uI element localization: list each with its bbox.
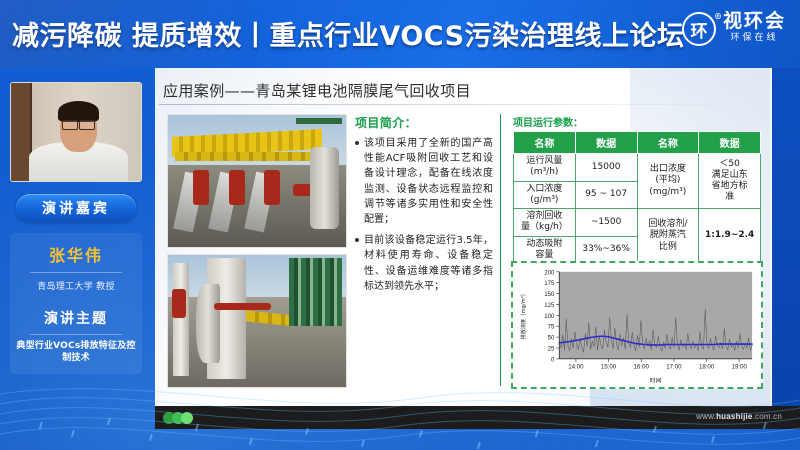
photo-red-pipe <box>229 170 245 204</box>
speaker-info-card: 张华伟 青岛理工大学 教授 演讲主题 典型行业VOCs排放特征及控制技术 <box>10 233 142 374</box>
site-name: huashijie <box>716 412 752 421</box>
cell-value: 95 ~ 107 <box>575 181 637 209</box>
slide-stage[interactable]: 应用案例——青岛某锂电池隔膜尾气回收项目 <box>155 68 800 406</box>
svg-text:200: 200 <box>544 270 555 276</box>
status-dot-icon <box>181 412 193 424</box>
svg-text:175: 175 <box>544 281 555 287</box>
photo-red-pipe <box>193 170 209 204</box>
cell-name: 动态吸附容量 <box>514 236 576 264</box>
svg-text:0: 0 <box>551 357 555 363</box>
logo-sub-text: 环保在线 <box>730 32 778 46</box>
speaker-glasses-icon <box>62 120 96 128</box>
slide-title: 应用案例——青岛某锂电池隔膜尾气回收项目 <box>163 80 471 101</box>
col-header-data-1: 数据 <box>575 132 637 154</box>
slide-right-accent-bar <box>772 68 800 406</box>
photo-green-band <box>296 118 342 125</box>
svg-text:75: 75 <box>548 325 555 331</box>
cell-value: ＜50满足山东省地方标准 <box>699 154 761 209</box>
table-header-row: 名称 数据 名称 数据 <box>514 132 761 154</box>
cell-value: 15000 <box>575 154 637 182</box>
cell-name: 回收溶剂/脱附蒸汽比例 <box>637 209 699 264</box>
photo-green-structure <box>289 258 342 327</box>
page-header: 减污降碳 提质增效丨重点行业VOCS污染治理线上论坛 环 视环会 环保在线 <box>0 0 800 68</box>
site-prefix: www. <box>696 412 716 421</box>
slide-right-accent-edge <box>770 68 772 406</box>
cell-value: ~1500 <box>575 209 637 237</box>
photo-red-pipe <box>264 170 280 204</box>
intro-heading: 项目简介： <box>355 114 493 131</box>
site-suffix: .com.cn <box>753 412 782 421</box>
project-intro-column: 项目简介： 该项目采用了全新的国产高性能ACF吸附回收工艺和设备设计理念，配备在… <box>355 114 493 300</box>
column-divider <box>500 114 501 386</box>
photo-main-duct <box>196 284 219 363</box>
bullet-icon <box>355 238 359 242</box>
list-item: 该项目采用了全新的国产高性能ACF吸附回收工艺和设备设计理念，配备在线浓度监测、… <box>355 136 493 227</box>
intro-bullet-text: 该项目采用了全新的国产高性能ACF吸附回收工艺和设备设计理念，配备在线浓度监测、… <box>364 136 493 227</box>
photo-red-pipe <box>172 289 186 318</box>
divider <box>30 272 122 273</box>
guest-badge: 演讲嘉宾 <box>16 194 136 222</box>
svg-text:25: 25 <box>548 347 555 353</box>
player-control-bar[interactable]: www.huashijie.com.cn <box>155 406 800 429</box>
cell-name: 入口浓度(g/m³) <box>514 181 576 209</box>
svg-text:17:00: 17:00 <box>666 365 682 371</box>
logo-main-text: 视环会 <box>723 12 786 32</box>
site-watermark: www.huashijie.com.cn <box>696 412 782 421</box>
photo-tower <box>173 263 189 377</box>
cell-value: 33%~36% <box>575 236 637 264</box>
circle-monogram-icon: 环 <box>682 12 716 46</box>
cell-name: 溶剂回收量（kg/h） <box>514 209 576 237</box>
speaker-sidebar: 演讲嘉宾 张华伟 青岛理工大学 教授 演讲主题 典型行业VOCs排放特征及控制技… <box>0 68 152 450</box>
photo-main-duct <box>310 147 338 229</box>
svg-text:150: 150 <box>544 292 555 298</box>
speaker-affiliation: 青岛理工大学 教授 <box>16 279 136 292</box>
table-row: 运行风量(m³/h) 15000 出口浓度(平均)(mg/m³) ＜50满足山东… <box>514 154 761 182</box>
svg-text:125: 125 <box>544 303 555 309</box>
cell-value: 1:1.9~2.4 <box>699 209 761 264</box>
intro-bullet-text: 目前该设备稳定运行3.5年，材料使用寿命、设备稳定性、设备运维难度等诸多指标达到… <box>364 233 493 294</box>
title-divider <box>159 104 759 105</box>
svg-text:18:00: 18:00 <box>699 365 715 371</box>
brand-logo: 环 视环会 环保在线 <box>682 12 786 46</box>
svg-text:14:00: 14:00 <box>568 365 584 371</box>
speaker-name: 张华伟 <box>16 242 136 266</box>
emission-concentration-chart: 025507510012515017520014:0015:0016:0017:… <box>511 261 763 389</box>
speaker-hair <box>58 101 98 123</box>
svg-text:15:00: 15:00 <box>601 365 617 371</box>
cell-name: 出口浓度(平均)(mg/m³) <box>637 154 699 209</box>
list-item: 目前该设备稳定运行3.5年，材料使用寿命、设备稳定性、设备运维难度等诸多指标达到… <box>355 233 493 294</box>
page-title: 减污降碳 提质增效丨重点行业VOCS污染治理线上论坛 <box>12 14 685 53</box>
col-header-name-2: 名称 <box>637 132 699 154</box>
app-root: 减污降碳 提质增效丨重点行业VOCS污染治理线上论坛 环 视环会 环保在线 演讲… <box>0 0 800 450</box>
chart-x-axis-label: 时间 <box>650 377 662 384</box>
col-header-data-2: 数据 <box>699 132 761 154</box>
table-row: 溶剂回收量（kg/h） ~1500 回收溶剂/脱附蒸汽比例 1:1.9~2.4 <box>514 209 761 237</box>
svg-text:100: 100 <box>544 314 555 320</box>
svg-text:19:00: 19:00 <box>732 365 748 371</box>
industrial-equipment-photo-bottom <box>167 254 347 388</box>
topic-label: 演讲主题 <box>16 308 136 328</box>
table-caption: 项目运行参数： <box>513 114 583 129</box>
svg-text:50: 50 <box>548 336 555 342</box>
svg-text:16:00: 16:00 <box>634 365 650 371</box>
chart-canvas: 025507510012515017520014:0015:0016:0017:… <box>516 266 758 384</box>
col-header-name-1: 名称 <box>514 132 576 154</box>
operating-parameters-table: 名称 数据 名称 数据 运行风量(m³/h) 15000 出口浓度(平均)(mg… <box>513 131 761 264</box>
photo-red-pipe <box>214 303 271 311</box>
cell-name: 运行风量(m³/h) <box>514 154 576 182</box>
topic-text: 典型行业VOCs排放特征及控制技术 <box>16 341 136 364</box>
divider <box>30 334 122 335</box>
status-indicator-dots <box>163 412 197 424</box>
photo-yellow-rail-2 <box>175 152 317 161</box>
industrial-equipment-photo-top <box>167 114 347 248</box>
chart-y-axis-label: 排放浓度（mg/m³） <box>519 291 527 340</box>
speaker-video-thumbnail[interactable] <box>10 82 142 182</box>
bullet-icon <box>355 141 359 145</box>
